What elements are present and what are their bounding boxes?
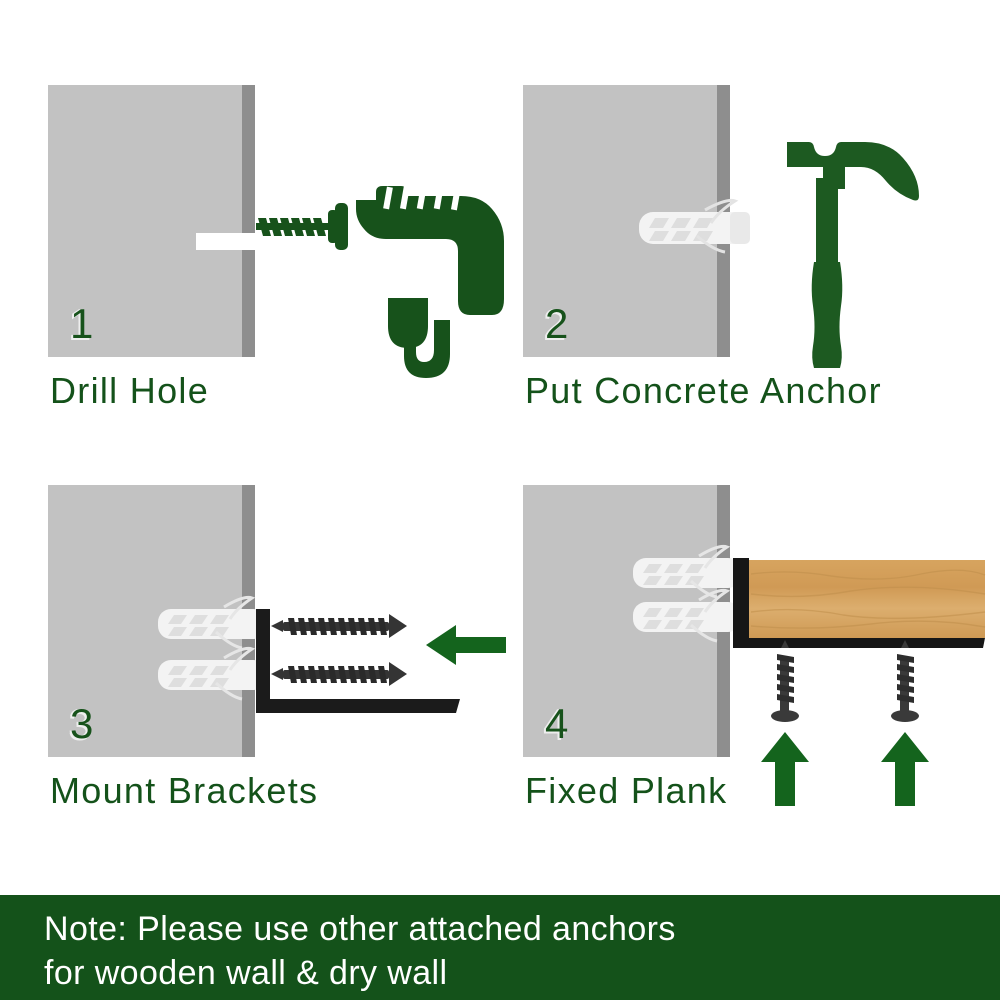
up-arrow-icon [881,732,929,806]
step-label-1: Drill Hole [50,370,209,412]
step-number-2: 2 [545,303,568,345]
step-panel-4: 4 [515,470,985,820]
step-panel-3: 3 [40,470,510,820]
screw-icon [771,640,799,722]
note-bar: Note: Please use other attached anchors … [0,895,1000,1000]
step-label-2: Put Concrete Anchor [525,370,882,412]
screw-icon [271,614,407,638]
note-line-2: for wooden wall & dry wall [44,951,1000,995]
wall-icon: 1 [48,85,255,357]
step-label-4: Fixed Plank [525,770,727,812]
wall-icon: 2 [523,85,730,357]
wall-icon: 4 [523,485,730,757]
screw-icon [891,640,919,722]
wall-edge [242,485,255,757]
wall-edge [717,485,730,757]
step-label-3: Mount Brackets [50,770,318,812]
hammer-icon [787,142,919,368]
screw-icon [271,662,407,686]
l-bracket-icon [256,609,460,713]
l-bracket-icon [733,558,985,648]
power-cord-icon [388,298,450,378]
drill-chuck-icon [328,203,348,250]
up-arrow-icon [761,732,809,806]
installation-instructions-diagram: 1 [0,0,1000,1000]
step-panel-2: 2 [515,70,985,420]
wall-icon: 3 [48,485,255,757]
wall-edge [717,85,730,357]
wood-plank-icon [749,560,985,638]
step-number-3: 3 [70,703,93,745]
step-number-4: 4 [545,703,568,745]
step-panel-1: 1 [40,70,510,420]
drill-icon [348,184,504,315]
step-number-1: 1 [70,303,93,345]
note-line-1: Note: Please use other attached anchors [44,907,1000,951]
left-arrow-icon [426,625,506,665]
wall-edge [242,85,255,357]
drill-bit-icon [256,218,330,236]
drill-hole-icon [196,233,266,250]
